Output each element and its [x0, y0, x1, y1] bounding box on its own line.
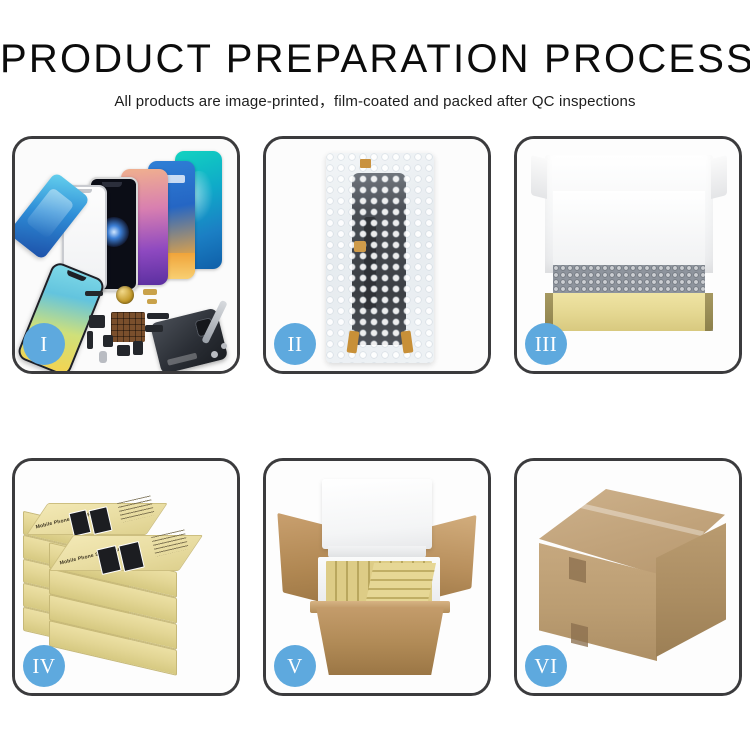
step-panel-6[interactable]: VI: [514, 458, 742, 696]
tape-middle-icon: [354, 241, 366, 252]
part-screw-small-icon: [221, 343, 227, 349]
part-flex-cable-icon: [87, 331, 93, 349]
part-bracket-icon: [145, 325, 163, 332]
carton-front-icon: [316, 607, 444, 675]
part-strip-icon: [85, 291, 103, 296]
step-panel-5[interactable]: V: [263, 458, 491, 696]
foam-sheet-icon: [553, 191, 705, 265]
yellow-box-front-icon: [545, 293, 713, 331]
tape-top-icon: [360, 159, 371, 168]
part-speaker-icon: [117, 345, 130, 356]
step-badge-6: VI: [525, 645, 567, 687]
step-panel-2[interactable]: II: [263, 136, 491, 374]
page-subtitle: All products are image-printed，film-coat…: [0, 90, 750, 111]
bubble-filler-icon: [553, 265, 705, 293]
step-badge-3: III: [525, 323, 567, 365]
step-panel-3[interactable]: III: [514, 136, 742, 374]
step-panel-4[interactable]: Mobile Phone Spare Parts Mobile Phone Sp…: [12, 458, 240, 696]
foam-lid-icon: [322, 479, 432, 549]
step-badge-4: IV: [23, 645, 65, 687]
coil-component-icon: [116, 286, 134, 304]
page-title: PRODUCT PREPARATION PROCESS: [0, 38, 750, 80]
step-panel-1[interactable]: I: [12, 136, 240, 374]
step-badge-2: II: [274, 323, 316, 365]
part-gold-pin-icon: [147, 299, 157, 304]
part-camera-icon: [133, 341, 143, 355]
inner-boxes-stacked-icon: [366, 563, 436, 601]
part-ribbon-icon: [147, 313, 169, 319]
part-module-icon: [103, 335, 113, 347]
chip-grid-icon: [111, 312, 145, 342]
carton-tape-lower-icon: [571, 623, 588, 647]
carton-tape-upper-icon: [569, 557, 586, 583]
step-badge-5: V: [274, 645, 316, 687]
bubble-texture-icon: [326, 153, 434, 363]
bubble-wrap-package-icon: [326, 153, 434, 363]
step-badge-1: I: [23, 323, 65, 365]
part-screw-icon: [211, 351, 218, 358]
process-steps-grid: I II III: [12, 136, 742, 696]
part-gold-clip-icon: [143, 289, 157, 295]
part-battery-icon: [99, 351, 107, 363]
part-connector-icon: [89, 315, 105, 328]
page-header: PRODUCT PREPARATION PROCESS All products…: [0, 0, 750, 111]
